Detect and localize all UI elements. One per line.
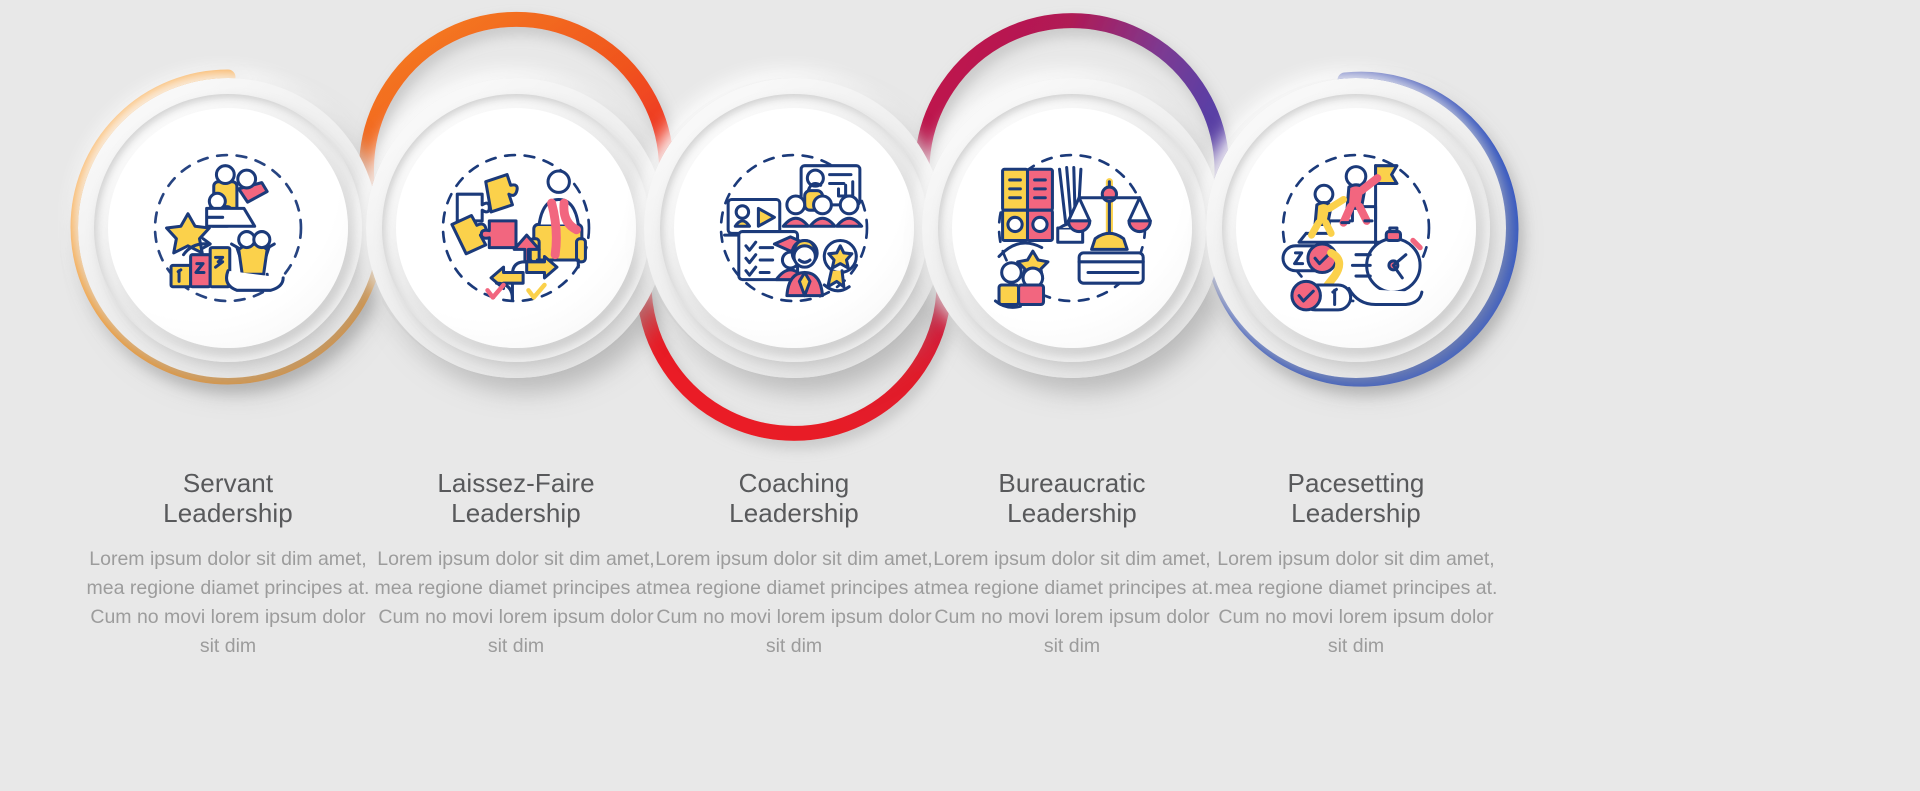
coaching-leadership-icon [705, 139, 883, 317]
laissez-faire-leadership-icon [427, 139, 605, 317]
step-1-disc[interactable] [78, 78, 378, 378]
step-4-disc[interactable] [922, 78, 1222, 378]
step-3-disc[interactable] [644, 78, 944, 378]
disc-inner-face [1236, 108, 1476, 348]
disc-inner-face [952, 108, 1192, 348]
disc-inner-face [396, 108, 636, 348]
step-5-disc[interactable] [1206, 78, 1506, 378]
disc-inner-face [108, 108, 348, 348]
infographic-root: Servant Leadership Lorem ipsum dolor sit… [0, 0, 1920, 791]
bureaucratic-leadership-icon [983, 139, 1161, 317]
disc-inner-face [674, 108, 914, 348]
servant-leadership-icon [139, 139, 317, 317]
step-2-disc[interactable] [366, 78, 666, 378]
step-5-caption: Pacesetting Leadership Lorem ipsum dolor… [1186, 468, 1526, 661]
step-5[interactable]: Pacesetting Leadership Lorem ipsum dolor… [1186, 0, 1526, 791]
step-5-title: Pacesetting Leadership [1186, 468, 1526, 528]
step-5-description: Lorem ipsum dolor sit dim amet, mea regi… [1186, 545, 1526, 661]
pacesetting-leadership-icon [1267, 139, 1445, 317]
